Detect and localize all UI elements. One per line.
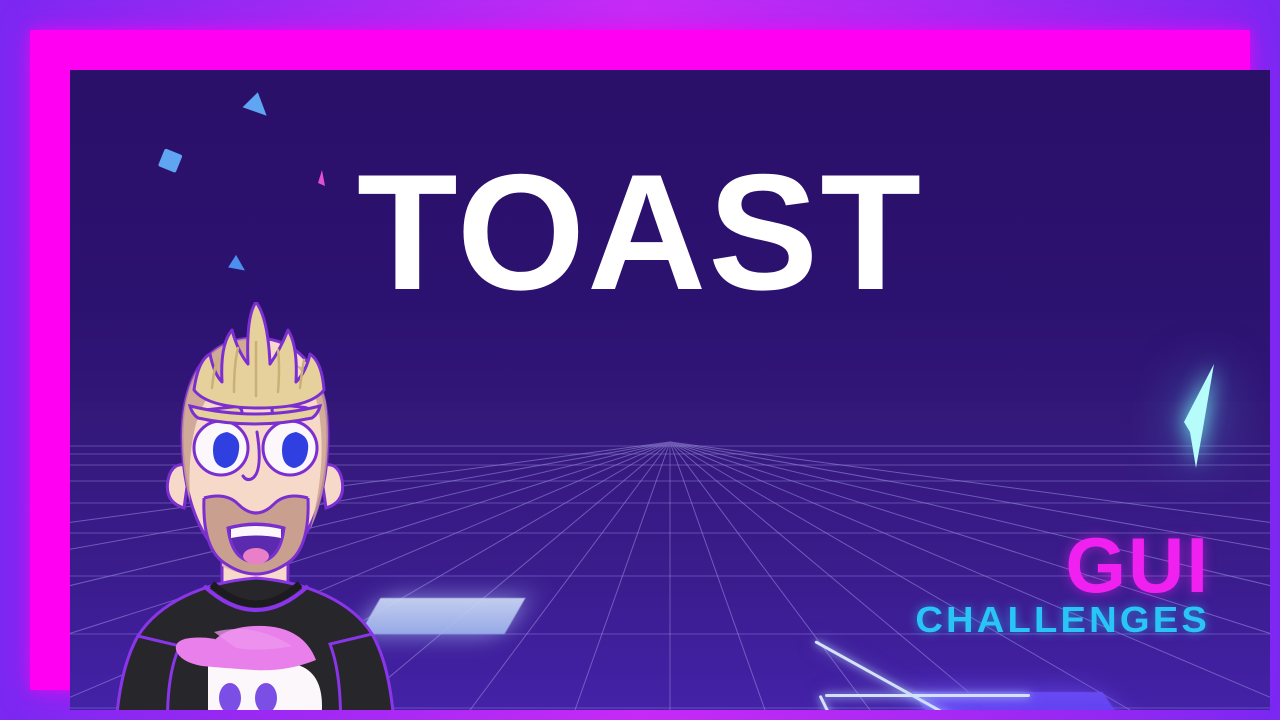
video-frame: TOAST GUI CHALLENGES bbox=[0, 0, 1280, 720]
cyan-shard-icon bbox=[1180, 360, 1220, 480]
host-character-avatar bbox=[94, 302, 474, 710]
brand-logo: GUI CHALLENGES bbox=[932, 530, 1210, 638]
confetti-triangle-blue-top bbox=[238, 88, 272, 122]
page-title: TOAST bbox=[0, 150, 1280, 315]
grid-neon-line-horizontal bbox=[825, 694, 1030, 697]
brand-logo-line1: GUI bbox=[932, 530, 1210, 602]
brand-logo-line2: CHALLENGES bbox=[915, 602, 1210, 638]
